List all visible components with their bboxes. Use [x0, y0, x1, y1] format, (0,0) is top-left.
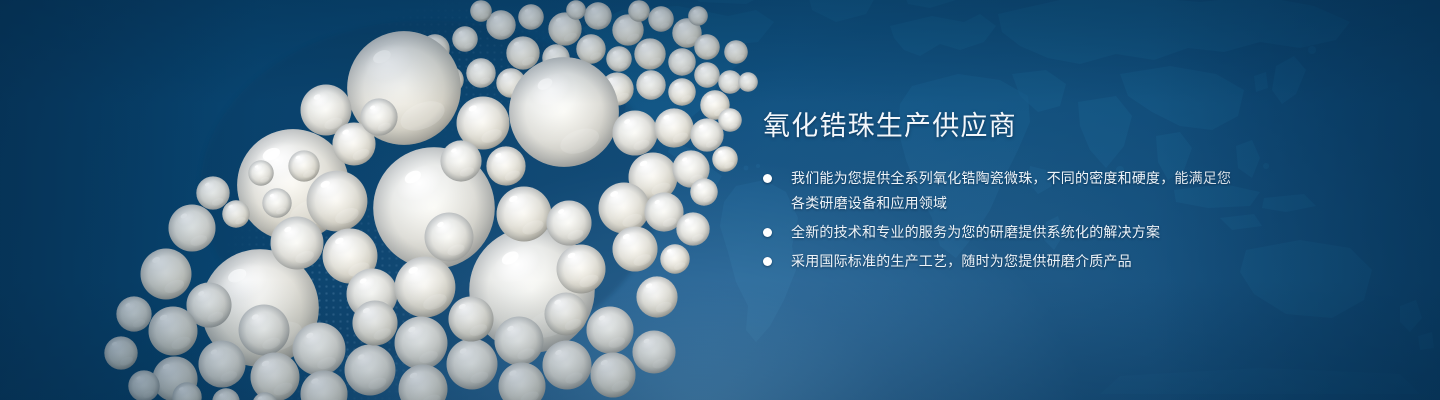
list-item-label: 全新的技术和专业的服务为您的研磨提供系统化的解决方案	[791, 220, 1233, 245]
bullet-dot-icon	[763, 174, 772, 183]
bullet-dot-icon	[763, 257, 772, 266]
list-item-label: 我们能为您提供全系列氧化锆陶瓷微珠，不同的密度和硬度，能满足您各类研磨设备和应用…	[791, 166, 1233, 216]
bullet-dot-icon	[763, 228, 772, 237]
list-item: 全新的技术和专业的服务为您的研磨提供系统化的解决方案	[763, 220, 1233, 245]
banner-copy: 氧化锆珠生产供应商 我们能为您提供全系列氧化锆陶瓷微珠，不同的密度和硬度，能满足…	[763, 108, 1233, 278]
list-item-label: 采用国际标准的生产工艺，随时为您提供研磨介质产品	[791, 249, 1233, 274]
list-item: 采用国际标准的生产工艺，随时为您提供研磨介质产品	[763, 249, 1233, 274]
feature-list: 我们能为您提供全系列氧化锆陶瓷微珠，不同的密度和硬度，能满足您各类研磨设备和应用…	[763, 166, 1233, 274]
list-item: 我们能为您提供全系列氧化锆陶瓷微珠，不同的密度和硬度，能满足您各类研磨设备和应用…	[763, 166, 1233, 216]
page-title: 氧化锆珠生产供应商	[763, 108, 1233, 144]
promo-banner: 氧化锆珠生产供应商 我们能为您提供全系列氧化锆陶瓷微珠，不同的密度和硬度，能满足…	[0, 0, 1440, 400]
